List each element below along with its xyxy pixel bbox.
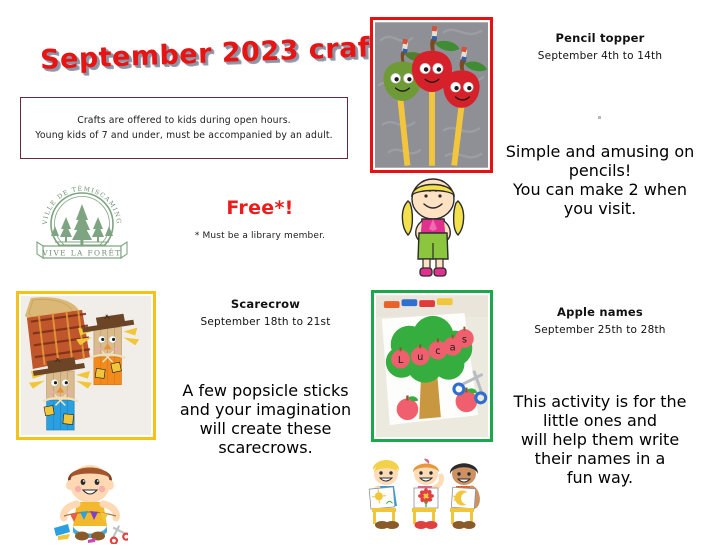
notice-line-1: Crafts are offered to kids during open h… <box>77 113 291 128</box>
scarecrow-body-line-3: will create these scarecrows. <box>178 419 353 457</box>
photo-scarecrow <box>16 291 156 440</box>
clipart-girl <box>396 171 470 279</box>
photo-pencil-topper <box>370 17 493 173</box>
pencil-topper-body-line-2: You can make 2 when you visit. <box>500 180 700 218</box>
scarecrow-dates: September 18th to 21st <box>178 316 353 328</box>
section-apple-names: Apple names September 25th to 28th <box>500 305 700 336</box>
apple-names-title: Apple names <box>500 305 700 319</box>
apple-names-dates: September 25th to 28th <box>500 324 700 336</box>
pencil-topper-dates: September 4th to 14th <box>500 50 700 62</box>
scarecrow-title: Scarecrow <box>178 297 353 311</box>
library-logo: VILLE DE TÉMISCAMING <box>33 184 131 262</box>
apple-names-body-line-2: will help them write their names in a <box>500 430 700 468</box>
price-label: Free*! <box>170 197 350 219</box>
svg-text:c: c <box>435 346 440 357</box>
section-scarecrow: Scarecrow September 18th to 21st <box>178 297 353 328</box>
pencil-topper-title: Pencil topper <box>500 31 700 45</box>
svg-text:VIVE LA FORÊT: VIVE LA FORÊT <box>41 249 121 258</box>
apple-names-body-line-1: This activity is for the little ones and <box>500 392 700 430</box>
pencil-topper-description: Simple and amusing on pencils! You can m… <box>500 142 700 218</box>
svg-text:a: a <box>450 342 456 353</box>
scarecrow-body-line-1: A few popsicle sticks <box>178 381 353 400</box>
scarecrow-description: A few popsicle sticks and your imaginati… <box>178 381 353 457</box>
section-pencil-topper: Pencil topper September 4th to 14th <box>500 31 700 62</box>
apple-names-description: This activity is for the little ones and… <box>500 392 700 487</box>
page-title: September 2023 crafts <box>40 38 340 84</box>
stray-dot-mark <box>598 116 601 119</box>
clipart-crafty-kid <box>52 458 128 544</box>
poster-page: September 2023 crafts Crafts are offered… <box>0 0 720 549</box>
notice-box: Crafts are offered to kids during open h… <box>20 97 348 159</box>
apple-names-body-line-3: fun way. <box>500 468 700 487</box>
svg-text:L: L <box>398 355 404 366</box>
svg-text:s: s <box>462 334 467 345</box>
clipart-three-kids-with-drawings <box>366 456 486 544</box>
svg-text:u: u <box>417 352 423 363</box>
notice-line-2: Young kids of 7 and under, must be accom… <box>35 128 333 143</box>
pencil-topper-body-line-1: Simple and amusing on pencils! <box>500 142 700 180</box>
price-footnote: * Must be a library member. <box>160 231 360 241</box>
photo-apple-names: L u c a <box>371 290 493 442</box>
page-title-text: September 2023 crafts <box>40 31 401 76</box>
scarecrow-body-line-2: and your imagination <box>178 400 353 419</box>
